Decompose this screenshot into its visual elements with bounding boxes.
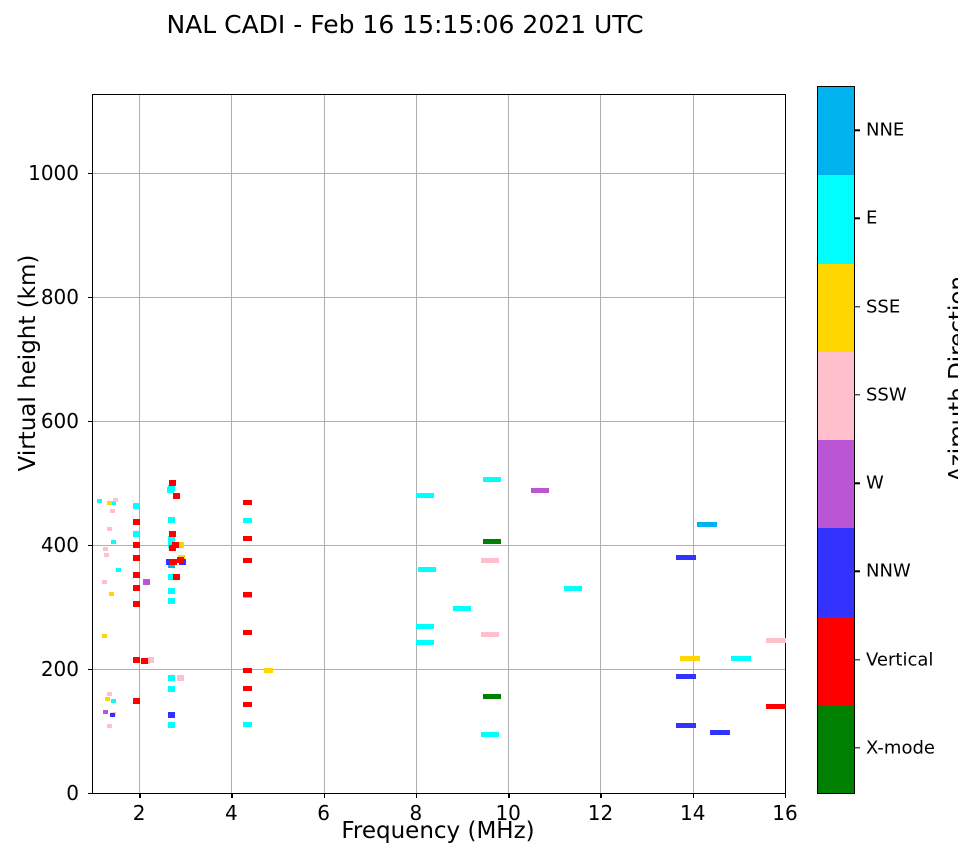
echo-point [133,572,140,578]
echo-point [676,723,696,728]
echo-point [531,488,549,493]
echo-point [680,656,700,661]
echo-point [416,640,434,645]
echo-point [177,557,184,563]
echo-point [243,558,252,563]
y-tick-label: 200 [41,657,79,681]
echo-point [243,592,252,597]
x-tick [785,793,786,798]
y-tick [88,669,93,670]
echo-point [105,697,110,701]
echo-point [168,517,175,523]
x-tick [600,793,601,798]
echo-point [143,579,150,585]
echo-point [697,522,717,527]
y-tick-label: 0 [66,781,79,805]
colorbar-tick [854,747,860,748]
echo-point [243,722,252,727]
echo-point [418,567,436,572]
echo-point [133,698,140,704]
colorbar-label-ssw: SSW [866,384,907,405]
y-tick [88,793,93,794]
echo-point [676,674,696,679]
echo-point [133,531,140,537]
echo-point [168,722,175,728]
x-gridline [508,95,509,793]
x-gridline [416,95,417,793]
echo-point [110,509,115,513]
x-gridline [231,95,232,793]
x-tick [508,793,509,798]
colorbar-segment-vertical[interactable] [818,617,854,705]
echo-point [110,713,115,717]
echo-point [102,580,107,584]
echo-point [113,498,118,502]
y-axis-label: Virtual height (km) [15,113,41,613]
x-gridline [324,95,325,793]
echo-point [116,568,121,572]
echo-point [107,501,112,505]
echo-point [168,588,175,594]
x-tick [231,793,232,798]
azimuth-colorbar[interactable] [817,86,855,794]
echo-point [103,710,108,714]
echo-point [766,638,786,643]
colorbar-label: Azimuth Direction [945,179,958,579]
echo-point [243,630,252,635]
echo-point [133,555,140,561]
colorbar-segment-nne[interactable] [818,87,854,175]
x-tick [139,793,140,798]
echo-point [243,702,252,707]
colorbar-tick [854,571,860,572]
echo-point [168,598,175,604]
echo-point [107,724,112,728]
echo-point [107,527,112,531]
echo-point [133,585,140,591]
colorbar-label-nne: NNE [866,120,904,141]
colorbar-label-vertical: Vertical [866,649,933,670]
echo-point [564,586,582,591]
colorbar-tick-labels: NNEESSESSWWNNWVerticalX-mode [854,86,954,792]
echo-point [169,531,176,537]
echo-point [243,536,252,541]
echo-point [243,500,252,505]
colorbar-segment-sse[interactable] [818,264,854,352]
echo-point [168,675,175,681]
colorbar-tick [854,482,860,483]
echo-point [453,606,471,611]
colorbar-segment-x-mode[interactable] [818,705,854,793]
echo-point [483,694,501,699]
echo-point [133,503,140,509]
echo-point [731,656,751,661]
echo-point [168,686,175,692]
echo-point [169,545,176,551]
y-tick [88,173,93,174]
echo-point [133,519,140,525]
x-gridline [693,95,694,793]
y-gridline [93,669,785,670]
echo-point [169,480,176,486]
echo-point [104,553,109,557]
colorbar-segment-nnw[interactable] [818,528,854,616]
echo-point [766,704,786,709]
echo-point [243,518,252,523]
x-gridline [600,95,601,793]
echo-point [109,592,114,596]
echo-point [416,493,434,498]
echo-point [483,539,501,544]
echo-point [111,699,116,703]
echo-point [97,499,102,503]
echo-point [167,487,174,493]
echo-point [710,730,730,735]
echo-point [102,634,107,638]
y-gridline [93,173,785,174]
colorbar-segment-e[interactable] [818,175,854,263]
y-tick-label: 800 [41,285,79,309]
x-gridline [139,95,140,793]
x-tick [324,793,325,798]
colorbar-label-w: W [866,473,884,494]
y-tick [88,421,93,422]
echo-point [168,712,175,718]
echo-point [133,542,140,548]
colorbar-tick [854,394,860,395]
echo-point [264,668,273,673]
echo-point [481,558,499,563]
echo-point [133,657,140,663]
echo-point [481,632,499,637]
colorbar-tick [854,129,860,130]
colorbar-label-sse: SSE [866,296,900,317]
echo-point [243,686,252,691]
echo-point [483,477,501,482]
y-tick-label: 600 [41,409,79,433]
colorbar-tick [854,218,860,219]
echo-point [173,493,180,499]
echo-point [141,658,148,664]
colorbar-segment-ssw[interactable] [818,352,854,440]
x-tick [416,793,417,798]
ionogram-figure: NAL CADI - Feb 16 15:15:06 2021 UTC 0200… [0,0,958,857]
y-tick-label: 400 [41,533,79,557]
y-gridline [93,545,785,546]
y-tick [88,297,93,298]
echo-point [177,675,184,681]
echo-point [107,692,112,696]
y-tick [88,545,93,546]
echo-point [481,732,499,737]
colorbar-tick [854,306,860,307]
colorbar-label-nnw: NNW [866,561,911,582]
echo-point [103,547,108,551]
colorbar-tick [854,659,860,660]
echo-point [173,574,180,580]
echo-point [111,540,116,544]
x-tick [693,793,694,798]
echo-point [676,555,696,560]
page-title: NAL CADI - Feb 16 15:15:06 2021 UTC [0,10,810,39]
colorbar-label-x-mode: X-mode [866,737,935,758]
colorbar-segment-w[interactable] [818,440,854,528]
echo-point [243,668,252,673]
echo-point [133,601,140,607]
plot-area: 02004006008001000246810121416 [92,94,786,794]
x-axis-label: Frequency (MHz) [92,818,784,844]
y-gridline [93,421,785,422]
colorbar-label-e: E [866,208,877,229]
y-gridline [93,297,785,298]
echo-point [416,624,434,629]
